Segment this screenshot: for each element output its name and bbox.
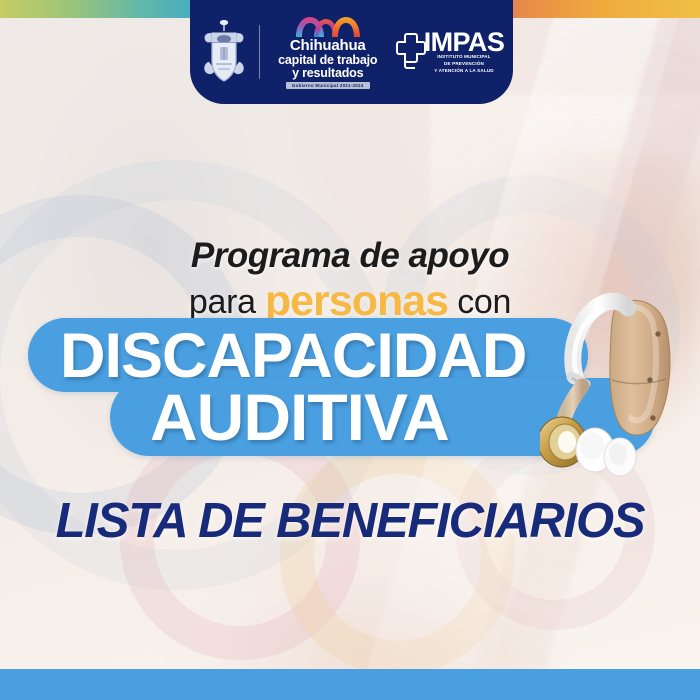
impas-acronym: IMPAS [424, 30, 505, 55]
poster-canvas: Chihuahua capital de trabajo y resultado… [0, 0, 700, 700]
chihuahua-line2: capital de trabajo [278, 54, 377, 67]
headline-band-word-2: AUDITIVA [150, 381, 449, 453]
hearing-aid-icon [540, 258, 700, 488]
chihuahua-line3: y resultados [292, 67, 363, 80]
bottom-blue-bar [0, 669, 700, 700]
impas-subline-3: Y ATENCIÓN A LA SALUD [434, 68, 493, 75]
chihuahua-line1: Chihuahua [290, 38, 366, 53]
medical-cross-icon [396, 31, 426, 73]
header-divider [259, 25, 260, 79]
header-panel: Chihuahua capital de trabajo y resultado… [190, 0, 513, 104]
impas-text: IMPAS INSTITUTO MUNICIPAL DE PREVENCIÓN … [424, 30, 505, 75]
logo-row: Chihuahua capital de trabajo y resultado… [195, 15, 509, 89]
chihuahua-logo: Chihuahua capital de trabajo y resultado… [270, 15, 386, 89]
chihuahua-tagline: Gobierno Municipal 2021-2024 [286, 82, 370, 89]
impas-subline-2: DE PREVENCIÓN [444, 61, 484, 68]
headline-line2-post: con [448, 283, 511, 321]
impas-logo: IMPAS INSTITUTO MUNICIPAL DE PREVENCIÓN … [396, 30, 505, 75]
chihuahua-waves-icon [292, 15, 364, 37]
subtitle: LISTA DE BENEFICIARIOS [0, 493, 700, 549]
headline-line2-pre: para [189, 283, 265, 321]
chihuahua-coat-of-arms-icon [199, 18, 249, 86]
